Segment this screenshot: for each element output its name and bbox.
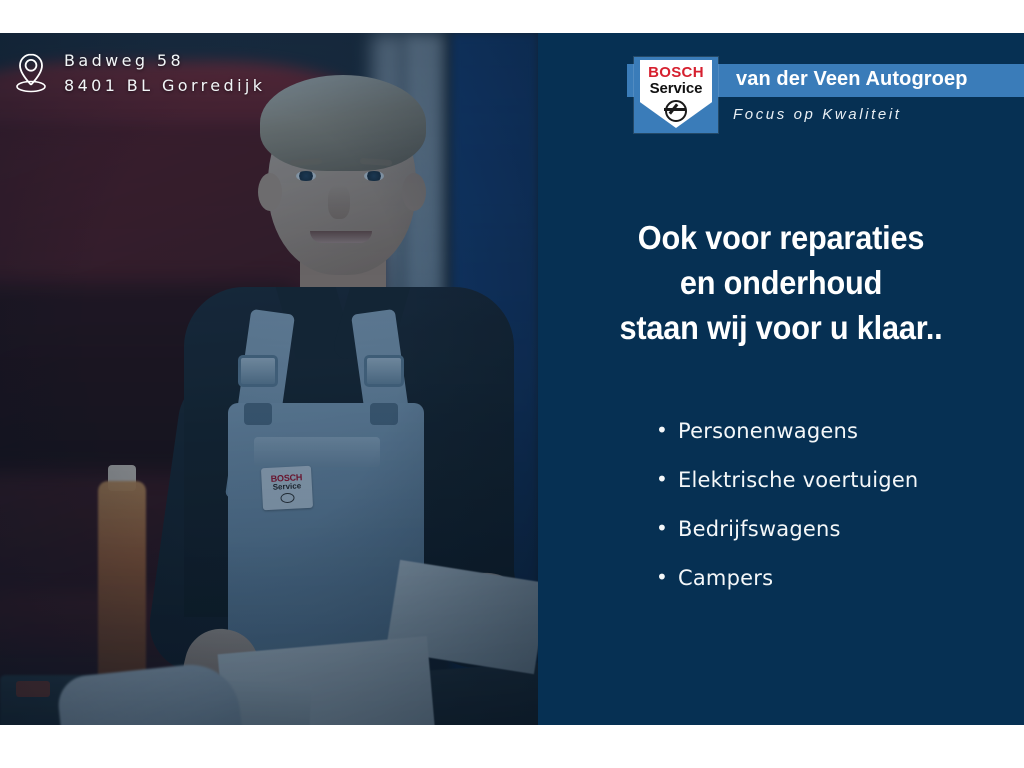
list-item: Elektrische voertuigen (656, 470, 1016, 491)
company-tagline: Focus op Kwaliteit (733, 106, 902, 123)
location-pin-icon (14, 52, 48, 94)
address-overlay: Badweg 58 8401 BL Gorredijk (14, 51, 265, 95)
company-name: van der Veen Autogroep (736, 68, 968, 91)
headline-line-1: Ook voor reparaties (555, 215, 1007, 260)
address-lines: Badweg 58 8401 BL Gorredijk (64, 51, 265, 95)
brand-row: BOSCH Service van der Veen Autogroep Foc… (538, 57, 1024, 139)
services-list: Personenwagens Elektrische voertuigen Be… (656, 421, 1016, 617)
headline-line-2: en onderhoud (555, 260, 1007, 305)
mechanic-photo: BOSCH Service (0, 33, 538, 725)
headline: Ook voor reparaties en onderhoud staan w… (555, 215, 1007, 351)
headline-line-3: staan wij voor u klaar.. (555, 305, 1007, 350)
bosch-wordmark: BOSCH (648, 65, 704, 80)
service-wordmark: Service (650, 81, 703, 96)
list-item: Personenwagens (656, 421, 1016, 442)
address-line-2: 8401 BL Gorredijk (64, 76, 265, 95)
photo-vignette (0, 33, 538, 725)
bosch-service-logo[interactable]: BOSCH Service (634, 57, 718, 133)
banner-stage: BOSCH Service (0, 0, 1024, 768)
bosch-logo-shield: BOSCH Service (640, 60, 712, 128)
list-item: Bedrijfswagens (656, 519, 1016, 540)
promo-banner: BOSCH Service (0, 33, 1024, 725)
list-item: Campers (656, 568, 1016, 589)
info-panel: BOSCH Service van der Veen Autogroep Foc… (538, 33, 1024, 725)
address-line-1: Badweg 58 (64, 51, 265, 70)
bosch-armature-icon (665, 100, 687, 122)
photo-scene: BOSCH Service (0, 33, 538, 725)
